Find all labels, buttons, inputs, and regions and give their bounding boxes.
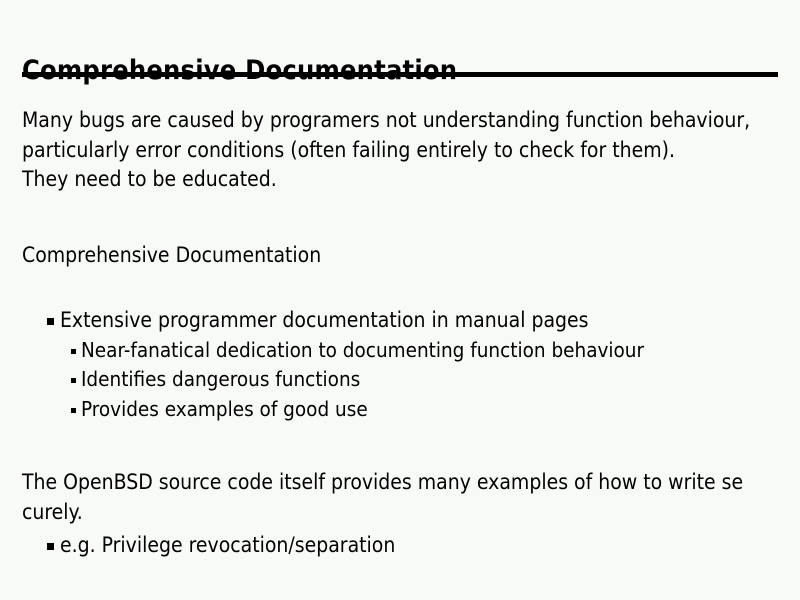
intro-paragraph-line-3: They need to be educated. bbox=[22, 165, 782, 195]
square-bullet-icon bbox=[71, 378, 76, 383]
outro-paragraph: The OpenBSD source code itself provides … bbox=[22, 468, 784, 527]
list-item: Near-fanatical dedication to documenting… bbox=[0, 336, 644, 366]
list-item: Identifies dangerous functions bbox=[0, 365, 644, 395]
intro-paragraph: Many bugs are caused by programers not u… bbox=[22, 106, 782, 195]
list-item-label: e.g. Privilege revocation/separation bbox=[60, 531, 395, 561]
list-item-label: Extensive programmer documentation in ma… bbox=[60, 306, 589, 336]
list-item-label: Near-fanatical dedication to documenting… bbox=[81, 336, 644, 366]
intro-paragraph-line-1: Many bugs are caused by programers not u… bbox=[22, 106, 782, 136]
square-bullet-icon bbox=[71, 408, 76, 413]
square-bullet-icon bbox=[47, 543, 54, 550]
list-item-label: Identifies dangerous functions bbox=[81, 365, 360, 395]
square-bullet-icon bbox=[47, 318, 54, 325]
square-bullet-icon bbox=[71, 349, 76, 354]
section-heading: Comprehensive Documentation bbox=[22, 241, 321, 271]
list-item: Provides examples of good use bbox=[0, 395, 644, 425]
list-item: e.g. Privilege revocation/separation bbox=[0, 531, 395, 561]
title-underline-rule bbox=[22, 72, 778, 77]
intro-paragraph-line-2: particularly error conditions (often fai… bbox=[22, 136, 782, 166]
presentation-slide: Comprehensive Documentation Many bugs ar… bbox=[0, 0, 800, 600]
outro-paragraph-line-1: The OpenBSD source code itself provides … bbox=[22, 468, 784, 498]
bullet-list-tail: e.g. Privilege revocation/separation bbox=[0, 531, 395, 561]
outro-paragraph-line-2: curely. bbox=[22, 498, 784, 528]
bullet-list-main: Extensive programmer documentation in ma… bbox=[0, 306, 644, 424]
list-item: Extensive programmer documentation in ma… bbox=[0, 306, 644, 336]
list-item-label: Provides examples of good use bbox=[81, 395, 368, 425]
